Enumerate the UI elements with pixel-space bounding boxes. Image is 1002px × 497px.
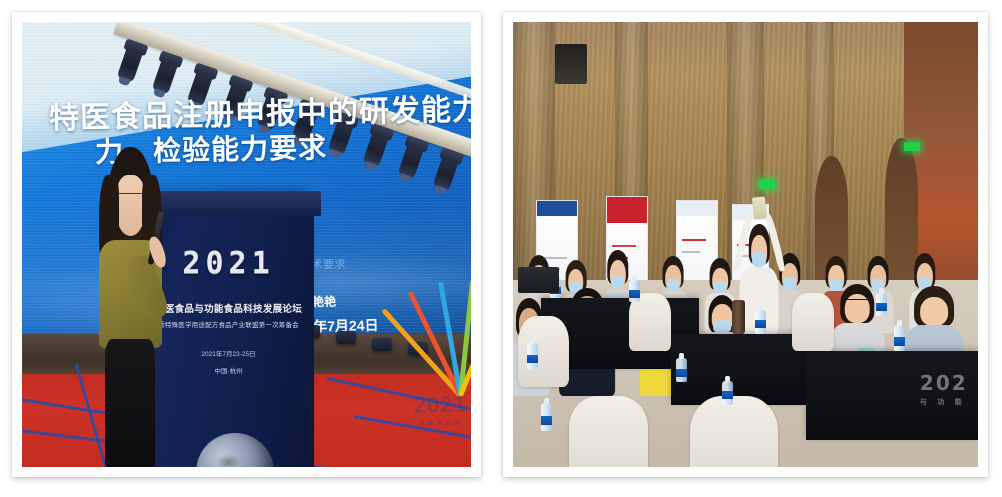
glasses-icon <box>844 299 871 308</box>
banquet-chair <box>569 396 648 467</box>
laptop-icon <box>518 267 560 294</box>
rollup-text-line <box>682 239 707 241</box>
table-brand-text: 202 与 功 能 <box>920 371 968 407</box>
floor-light-icon <box>336 331 356 344</box>
stage-light-icon <box>151 58 178 96</box>
screen-title-line-1: 特医食品注册申报中的研发能力、生产 <box>49 93 463 135</box>
rollup-text-line <box>612 245 637 247</box>
stage-light-icon <box>115 46 142 84</box>
floor-light-icon <box>372 338 392 351</box>
decorative-fan <box>426 280 471 396</box>
photo-frame-speaker[interactable]: 特医食品注册申报中的研发能力、生产 力、检验能力要求 特殊医学用途配方食品注册申… <box>12 12 481 477</box>
banquet-chair <box>792 293 834 351</box>
conference-table-branded: 202 与 功 能 <box>806 351 978 440</box>
water-bottle <box>527 343 538 369</box>
thermos-flask <box>732 300 745 334</box>
smartphone-icon <box>752 197 767 220</box>
table-brand-year: 202 <box>920 371 968 395</box>
rollup-header-band <box>607 197 647 223</box>
globe-icon <box>196 433 274 467</box>
banquet-chair <box>629 293 671 351</box>
photo-speaker-at-podium[interactable]: 特医食品注册申报中的研发能力、生产 力、检验能力要求 特殊医学用途配方食品注册申… <box>22 22 471 467</box>
speaker-person <box>85 147 175 467</box>
water-bottle <box>755 310 766 334</box>
photo-audience-seated[interactable]: 202 与 功 能 <box>513 22 978 467</box>
water-bottle <box>722 381 733 405</box>
banquet-chair <box>518 316 569 387</box>
exit-sign-icon <box>759 180 775 189</box>
photo-gallery: 特医食品注册申报中的研发能力、生产 力、检验能力要求 特殊医学用途配方食品注册申… <box>0 0 1002 497</box>
conference-table <box>671 334 811 405</box>
rollup-header-band <box>537 201 577 216</box>
carpet-stripe <box>354 415 471 449</box>
water-bottle <box>676 358 687 382</box>
water-bottle <box>894 325 905 351</box>
speaker-legs <box>105 339 155 467</box>
exit-sign-icon <box>904 142 920 151</box>
water-bottle <box>876 293 887 316</box>
table-brand-sub: 与 功 能 <box>920 397 968 407</box>
water-bottle <box>629 280 640 302</box>
ceiling-speaker-icon <box>555 44 588 84</box>
photo-frame-audience[interactable]: 202 与 功 能 <box>503 12 988 477</box>
water-bottle <box>541 403 552 431</box>
rollup-header-band <box>677 201 717 216</box>
banquet-chair <box>690 396 778 467</box>
